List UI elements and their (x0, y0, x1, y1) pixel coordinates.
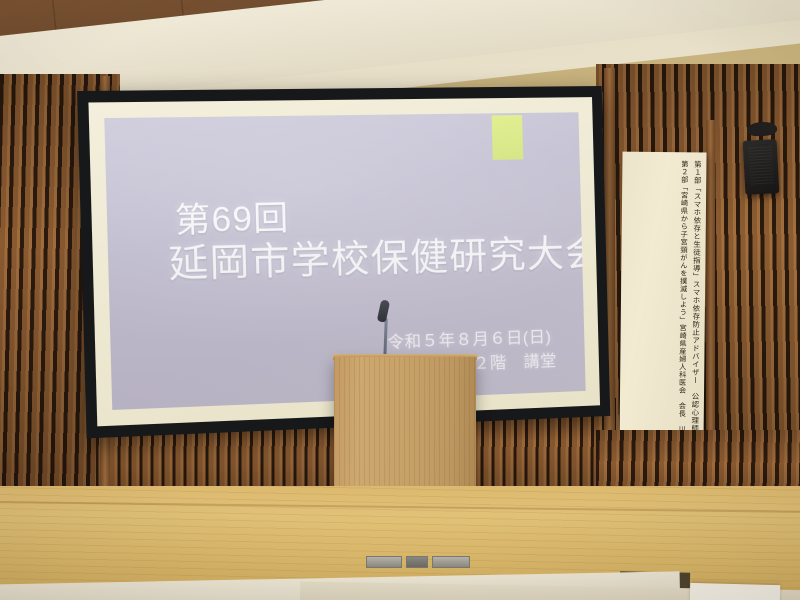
floor-outlet-plate (406, 556, 428, 568)
auditorium-scene: 第69回 延岡市学校保健研究大会 令和５年８月６日(日) 延岡市役所２階 講堂 … (0, 0, 800, 600)
slide-title-line-1: 第69回 (174, 200, 289, 237)
floor-outlet-plate (366, 556, 402, 568)
program-banner: 第１部「スマホ依存と生徒指導」スマホ依存防止アドバイザー 公認心理師 堀 省吾 … (619, 152, 706, 447)
floor-outlet-plate (432, 556, 470, 568)
banner-column-part-1: 第１部「スマホ依存と生徒指導」スマホ依存防止アドバイザー 公認心理師 堀 省吾 … (689, 160, 702, 438)
wall-speaker (743, 139, 780, 195)
speaker-grill (748, 146, 774, 185)
banner-column-part-2: 第２部「宮崎県から子宮頸がんを撲滅しよう」宮崎県産婦人科医会 会長 川越靖之 氏 (677, 160, 690, 438)
slide-title-line-2: 延岡市学校保健研究大会 (168, 234, 586, 283)
foreground-paper (690, 583, 781, 600)
